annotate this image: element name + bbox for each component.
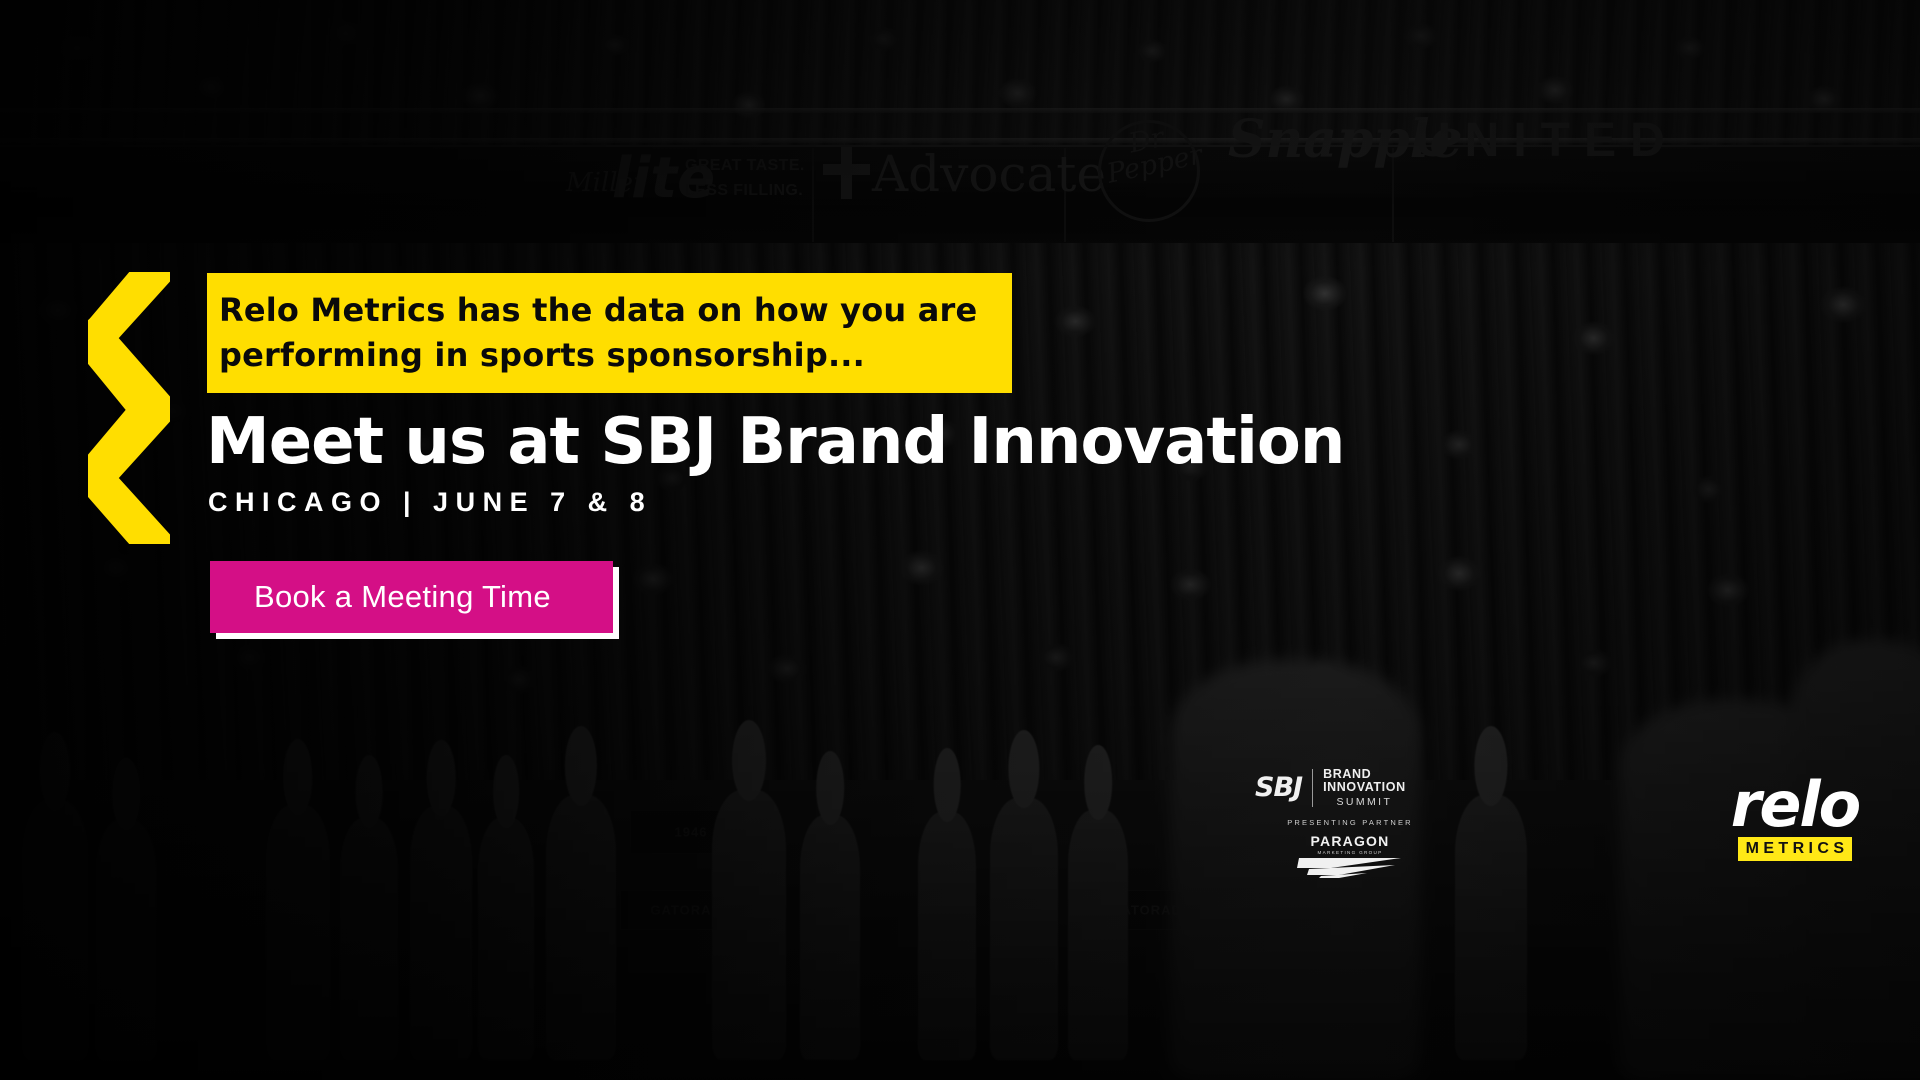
- book-a-meeting-button[interactable]: Book a Meeting Time: [210, 561, 613, 633]
- sbj-wordmark: SBJ: [1255, 772, 1302, 803]
- summit-line-innovation: INNOVATION: [1323, 781, 1406, 794]
- page-title: Meet us at SBJ Brand Innovation: [206, 403, 1406, 481]
- paragon-logo: PARAGON MARKETING GROUP: [1255, 833, 1445, 878]
- presenting-partner-label: PRESENTING PARTNER: [1255, 818, 1445, 827]
- paragon-wordmark: PARAGON: [1255, 833, 1445, 849]
- promo-content-layer: Relo Metrics has the data on how you are…: [0, 0, 1920, 1080]
- eyebrow-line-1: Relo Metrics has the data on how you are: [219, 288, 998, 333]
- eyebrow-banner: Relo Metrics has the data on how you are…: [207, 273, 1012, 393]
- sbj-logo-row: SBJ BRAND INNOVATION SUMMIT: [1255, 768, 1445, 808]
- relo-metrics-subword: METRICS: [1738, 837, 1853, 861]
- summit-name-stack: BRAND INNOVATION SUMMIT: [1323, 768, 1406, 808]
- sbj-logo-divider: [1312, 769, 1313, 807]
- paragon-tagline: MARKETING GROUP: [1255, 850, 1445, 855]
- sbj-event-logo: SBJ BRAND INNOVATION SUMMIT PRESENTING P…: [1255, 768, 1445, 873]
- double-chevron-icon: [88, 272, 170, 544]
- eyebrow-line-2: performing in sports sponsorship...: [219, 333, 998, 378]
- summit-line-summit: SUMMIT: [1323, 797, 1406, 808]
- promo-banner-canvas: Miller lite GREAT TASTE. LESS FILLING. A…: [0, 0, 1920, 1080]
- relo-metrics-logo: relo METRICS: [1720, 775, 1870, 870]
- event-location-date: CHICAGO | JUNE 7 & 8: [208, 487, 652, 518]
- cta-container: Book a Meeting Time: [210, 561, 613, 633]
- relo-wordmark: relo: [1720, 775, 1870, 835]
- summit-line-brand: BRAND: [1323, 768, 1406, 781]
- paragon-swoosh-icon: [1295, 856, 1405, 878]
